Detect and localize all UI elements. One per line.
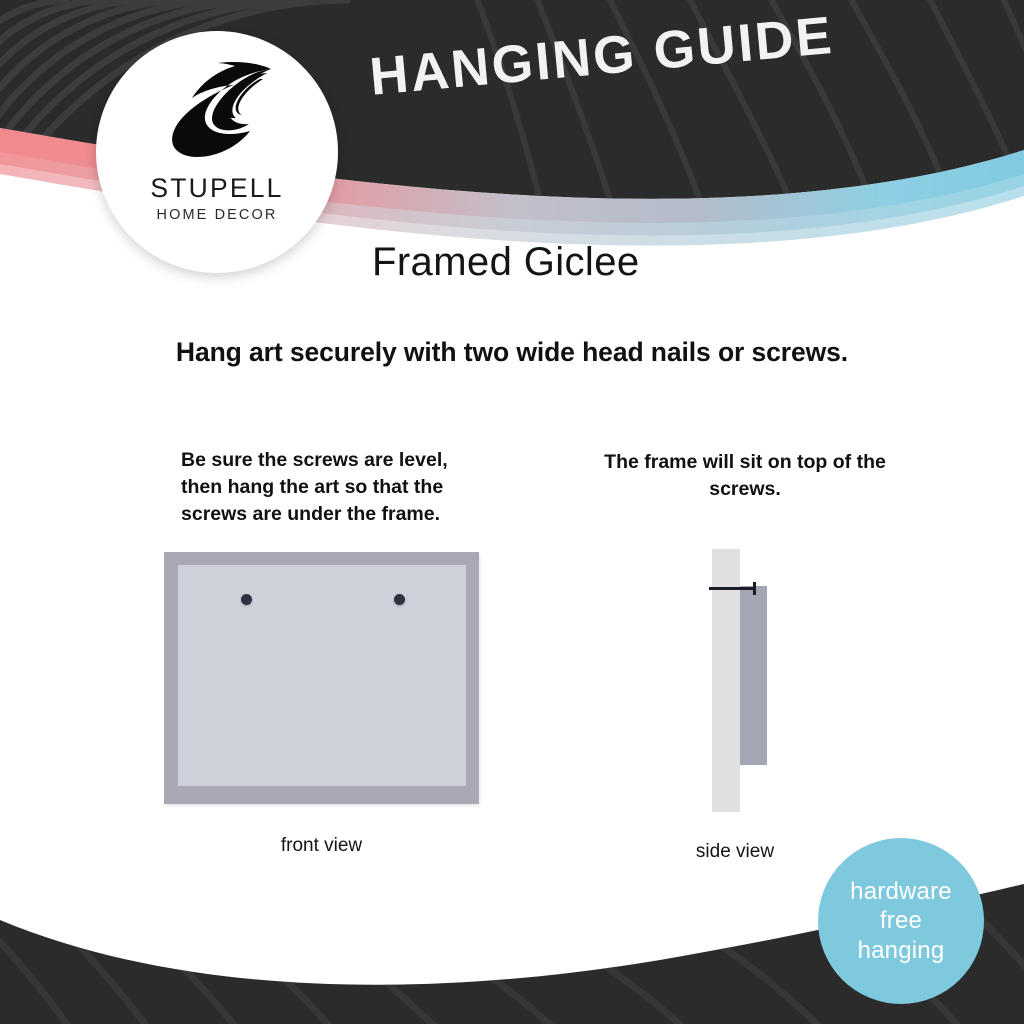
page-title: HANGING GUIDE <box>367 5 836 108</box>
badge-line-1: hardware <box>850 877 952 906</box>
brand-tagline: HOME DECOR <box>157 207 278 223</box>
brand-logo-badge: STUPELL HOME DECOR <box>96 31 338 273</box>
badge-line-2: free <box>880 906 922 935</box>
product-type-title: Framed Giclee <box>372 240 640 285</box>
nail-head-icon <box>753 582 756 595</box>
nail-shaft-icon <box>709 587 756 590</box>
brand-name: STUPELL <box>150 173 283 204</box>
badge-line-3: hanging <box>858 936 945 965</box>
side-view-diagram <box>700 545 810 820</box>
screw-dot-right-icon <box>394 594 405 605</box>
front-view-diagram <box>164 552 479 804</box>
screw-dot-left-icon <box>241 594 252 605</box>
front-view-label: front view <box>164 835 479 857</box>
side-view-caption: The frame will sit on top of the screws. <box>600 449 890 503</box>
front-view-mat <box>178 565 466 786</box>
hanging-guide-page: HANGING GUIDE STUPELL HOME DECOR Framed … <box>0 0 1024 1024</box>
front-view-caption: Be sure the screws are level, then hang … <box>181 447 481 528</box>
hardware-free-hanging-badge: hardware free hanging <box>818 838 984 1004</box>
side-view-label: side view <box>660 841 810 863</box>
main-instruction-text: Hang art securely with two wide head nai… <box>0 337 1024 368</box>
side-view-frame <box>740 586 767 765</box>
stupell-swoosh-icon <box>155 57 279 169</box>
